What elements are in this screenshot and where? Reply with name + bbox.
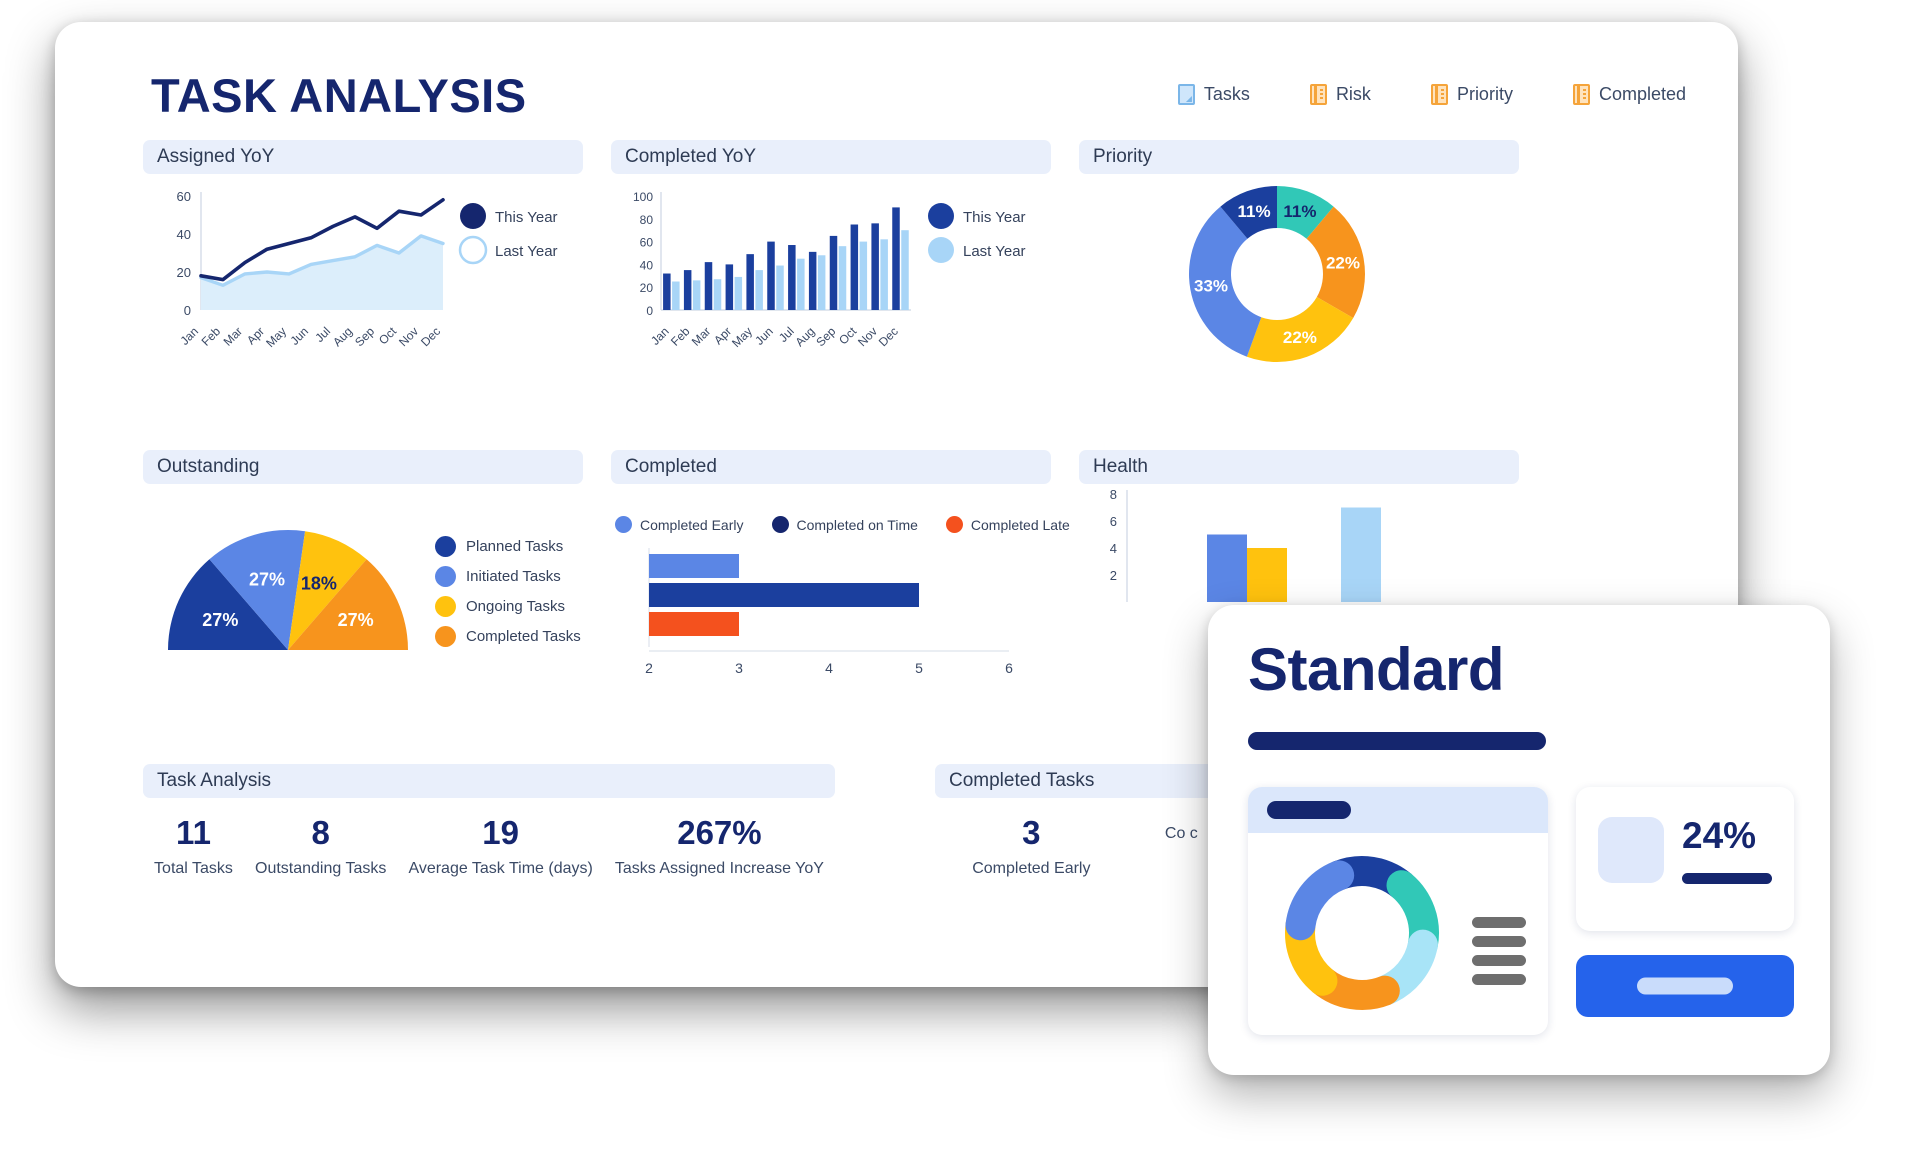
svg-text:8: 8 — [1110, 487, 1117, 502]
svg-text:60: 60 — [640, 236, 654, 250]
panel-title-outstanding: Outstanding — [143, 450, 583, 484]
legend-swatch-completed — [435, 626, 456, 647]
dashboard-header: TASK ANALYSIS Tasks Risk Priority Comple… — [55, 22, 1738, 134]
mini-line — [1472, 917, 1526, 928]
svg-text:Oct: Oct — [376, 324, 400, 348]
svg-text:100: 100 — [633, 190, 653, 204]
legend-swatch-initiated — [435, 566, 456, 587]
panel-title-task-analysis: Task Analysis — [143, 764, 835, 798]
svg-text:Last Year: Last Year — [495, 243, 558, 260]
svg-text:Jul: Jul — [312, 324, 333, 345]
nav-item-risk[interactable]: Risk — [1310, 84, 1371, 105]
svg-text:20: 20 — [177, 265, 191, 280]
svg-text:2: 2 — [645, 660, 653, 676]
kpi-row-right: 3 Completed Early Co c — [935, 816, 1235, 879]
svg-text:Sep: Sep — [352, 324, 377, 349]
mini-text-lines — [1472, 917, 1526, 993]
nav-label-priority: Priority — [1457, 84, 1513, 105]
legend-item[interactable]: Completed Tasks — [435, 626, 581, 647]
panel-title-assigned-yoy: Assigned YoY — [143, 140, 583, 174]
svg-text:Aug: Aug — [330, 324, 355, 349]
legend-item[interactable]: Completed Late — [946, 516, 1070, 533]
svg-text:11%: 11% — [1238, 202, 1271, 221]
kpi-label: Co c — [1165, 824, 1198, 844]
screenshot-root: TASK ANALYSIS Tasks Risk Priority Comple… — [0, 0, 1920, 1156]
mini-line — [1472, 936, 1526, 947]
percent-divider — [1682, 873, 1772, 884]
panel-task-analysis: Task Analysis 11 Total Tasks 8 Outstandi… — [143, 764, 835, 798]
svg-text:4: 4 — [825, 660, 833, 676]
kpi-value: 8 — [255, 816, 386, 851]
svg-text:60: 60 — [177, 189, 191, 204]
svg-text:Oct: Oct — [836, 324, 860, 348]
svg-text:Feb: Feb — [668, 324, 693, 349]
svg-text:4: 4 — [1110, 541, 1117, 556]
mini-donut-icon — [1262, 843, 1462, 1023]
book-icon — [1431, 84, 1448, 105]
legend-label-planned: Planned Tasks — [466, 538, 563, 555]
bar-chart-svg: 020406080100JanFebMarAprMayJunJulAugSepO… — [611, 174, 1051, 394]
svg-text:Apr: Apr — [711, 324, 734, 347]
kpi-row-left: 11 Total Tasks 8 Outstanding Tasks 19 Av… — [143, 816, 835, 879]
kpi-completed-early: 3 Completed Early — [972, 816, 1090, 879]
svg-text:Dec: Dec — [418, 324, 443, 349]
legend-swatch-early — [615, 516, 632, 533]
svg-text:Jun: Jun — [752, 324, 776, 348]
panel-completed-yoy: Completed YoY 020406080100JanFebMarAprMa… — [611, 140, 1051, 394]
svg-text:This Year: This Year — [495, 209, 558, 226]
nav-item-priority[interactable]: Priority — [1431, 84, 1513, 105]
legend-swatch-ongoing — [435, 596, 456, 617]
top-navigation: Tasks Risk Priority Completed — [1178, 84, 1686, 105]
svg-text:5: 5 — [915, 660, 923, 676]
kpi-value: 3 — [972, 816, 1090, 851]
svg-text:Apr: Apr — [244, 324, 267, 347]
legend-outstanding: Planned Tasks Initiated Tasks Ongoing Ta… — [435, 536, 581, 656]
panel-title-priority: Priority — [1079, 140, 1519, 174]
svg-text:33%: 33% — [1194, 277, 1228, 296]
panel-priority: Priority 11%22%22%33%11% — [1079, 140, 1519, 394]
svg-text:3: 3 — [735, 660, 743, 676]
horizontal-bar-chart-svg: 23456 — [611, 544, 1051, 694]
nav-label-completed: Completed — [1599, 84, 1686, 105]
kpi-tasks-assigned-increase: 267% Tasks Assigned Increase YoY — [615, 816, 824, 879]
svg-text:6: 6 — [1110, 514, 1117, 529]
standard-overlay-card: Standard 24% — [1208, 605, 1830, 1075]
svg-text:27%: 27% — [202, 610, 238, 630]
legend-item[interactable]: Ongoing Tasks — [435, 596, 581, 617]
chart-priority: 11%22%22%33%11% — [1079, 174, 1519, 394]
donut-chart-svg: 11%22%22%33%11% — [1079, 174, 1519, 394]
svg-text:Mar: Mar — [221, 324, 246, 349]
svg-text:Nov: Nov — [396, 324, 421, 349]
kpi-label: Total Tasks — [154, 859, 233, 879]
kpi-value: 11 — [154, 816, 233, 851]
nav-item-completed[interactable]: Completed — [1573, 84, 1686, 105]
svg-text:Sep: Sep — [813, 324, 838, 349]
kpi-label: Completed Early — [972, 859, 1090, 879]
page-title: TASK ANALYSIS — [151, 68, 527, 123]
kpi-label: Outstanding Tasks — [255, 859, 386, 879]
percent-stat-card: 24% — [1576, 787, 1794, 931]
panel-assigned-yoy: Assigned YoY 0204060JanFebMarAprMayJunJu… — [143, 140, 583, 394]
kpi-total-tasks: 11 Total Tasks — [154, 816, 233, 879]
legend-label-early: Completed Early — [640, 517, 744, 533]
document-icon — [1178, 84, 1195, 105]
kpi-value: 267% — [615, 816, 824, 851]
svg-text:May: May — [263, 324, 289, 350]
chart-completed-yoy: 020406080100JanFebMarAprMayJunJulAugSepO… — [611, 174, 1051, 394]
semicircle-chart-svg: 27%27%18%27% — [143, 502, 433, 702]
line-chart-svg: 0204060JanFebMarAprMayJunJulAugSepOctNov… — [143, 174, 583, 394]
cta-pill — [1637, 978, 1733, 995]
svg-text:Nov: Nov — [855, 324, 880, 349]
svg-text:Jul: Jul — [776, 324, 797, 345]
svg-text:Aug: Aug — [793, 324, 818, 349]
kpi-outstanding-tasks: 8 Outstanding Tasks — [255, 816, 386, 879]
nav-item-tasks[interactable]: Tasks — [1178, 84, 1250, 105]
svg-text:0: 0 — [184, 303, 191, 318]
svg-text:18%: 18% — [301, 573, 337, 593]
panel-title-completed: Completed — [611, 450, 1051, 484]
cta-button[interactable] — [1576, 955, 1794, 1017]
svg-text:40: 40 — [640, 258, 654, 272]
chart-outstanding: 27%27%18%27% Planned Tasks Initiated Tas… — [143, 484, 583, 694]
nav-label-risk: Risk — [1336, 84, 1371, 105]
kpi-label: Tasks Assigned Increase YoY — [615, 859, 824, 879]
book-icon — [1573, 84, 1590, 105]
svg-text:Jun: Jun — [288, 324, 312, 348]
legend-swatch-late — [946, 516, 963, 533]
legend-label-completed: Completed Tasks — [466, 628, 581, 645]
legend-completed: Completed Early Completed on Time Comple… — [615, 516, 1070, 533]
svg-text:Last Year: Last Year — [963, 243, 1026, 260]
svg-text:May: May — [729, 324, 755, 350]
legend-item[interactable]: Completed on Time — [772, 516, 918, 533]
panel-title-health: Health — [1079, 450, 1519, 484]
kpi-average-task-time: 19 Average Task Time (days) — [408, 816, 592, 879]
svg-text:80: 80 — [640, 213, 654, 227]
svg-text:6: 6 — [1005, 660, 1013, 676]
kpi-completed-partial: Co c — [1165, 816, 1198, 879]
chart-assigned-yoy: 0204060JanFebMarAprMayJunJulAugSepOctNov… — [143, 174, 583, 394]
legend-item[interactable]: Completed Early — [615, 516, 744, 533]
svg-text:Feb: Feb — [199, 324, 224, 349]
book-icon — [1310, 84, 1327, 105]
svg-text:11%: 11% — [1283, 202, 1316, 221]
svg-text:20: 20 — [640, 281, 654, 295]
legend-swatch-planned — [435, 536, 456, 557]
svg-text:0: 0 — [646, 304, 653, 318]
legend-label-ongoing: Ongoing Tasks — [466, 598, 565, 615]
mini-line — [1472, 974, 1526, 985]
chart-completed: Completed Early Completed on Time Comple… — [611, 484, 1051, 694]
panel-title-completed-yoy: Completed YoY — [611, 140, 1051, 174]
nav-label-tasks: Tasks — [1204, 84, 1250, 105]
svg-text:This Year: This Year — [963, 209, 1026, 226]
svg-text:Mar: Mar — [689, 324, 714, 349]
percent-swatch — [1598, 817, 1664, 883]
panel-completed: Completed Completed Early Completed on T… — [611, 450, 1051, 694]
mini-line — [1472, 955, 1526, 966]
svg-text:22%: 22% — [1283, 328, 1317, 347]
svg-text:Jan: Jan — [648, 324, 672, 348]
svg-text:27%: 27% — [338, 610, 374, 630]
svg-text:27%: 27% — [249, 570, 285, 590]
kpi-label: Average Task Time (days) — [408, 859, 592, 879]
svg-text:Jan: Jan — [178, 324, 202, 348]
mini-browser-address-pill — [1267, 801, 1351, 819]
svg-text:40: 40 — [177, 227, 191, 242]
legend-item[interactable]: Initiated Tasks — [435, 566, 581, 587]
legend-item[interactable]: Planned Tasks — [435, 536, 581, 557]
standard-card-title: Standard — [1248, 635, 1504, 704]
legend-label-late: Completed Late — [971, 517, 1070, 533]
svg-text:Dec: Dec — [876, 324, 901, 349]
legend-label-initiated: Initiated Tasks — [466, 568, 561, 585]
svg-text:22%: 22% — [1326, 253, 1360, 272]
standard-divider — [1248, 732, 1546, 750]
panel-outstanding: Outstanding 27%27%18%27% Planned Tasks I… — [143, 450, 583, 694]
percent-value: 24% — [1682, 815, 1756, 857]
legend-label-ontime: Completed on Time — [797, 517, 918, 533]
kpi-value: 19 — [408, 816, 592, 851]
mini-browser-preview — [1248, 787, 1548, 1035]
svg-text:2: 2 — [1110, 568, 1117, 583]
legend-swatch-ontime — [772, 516, 789, 533]
